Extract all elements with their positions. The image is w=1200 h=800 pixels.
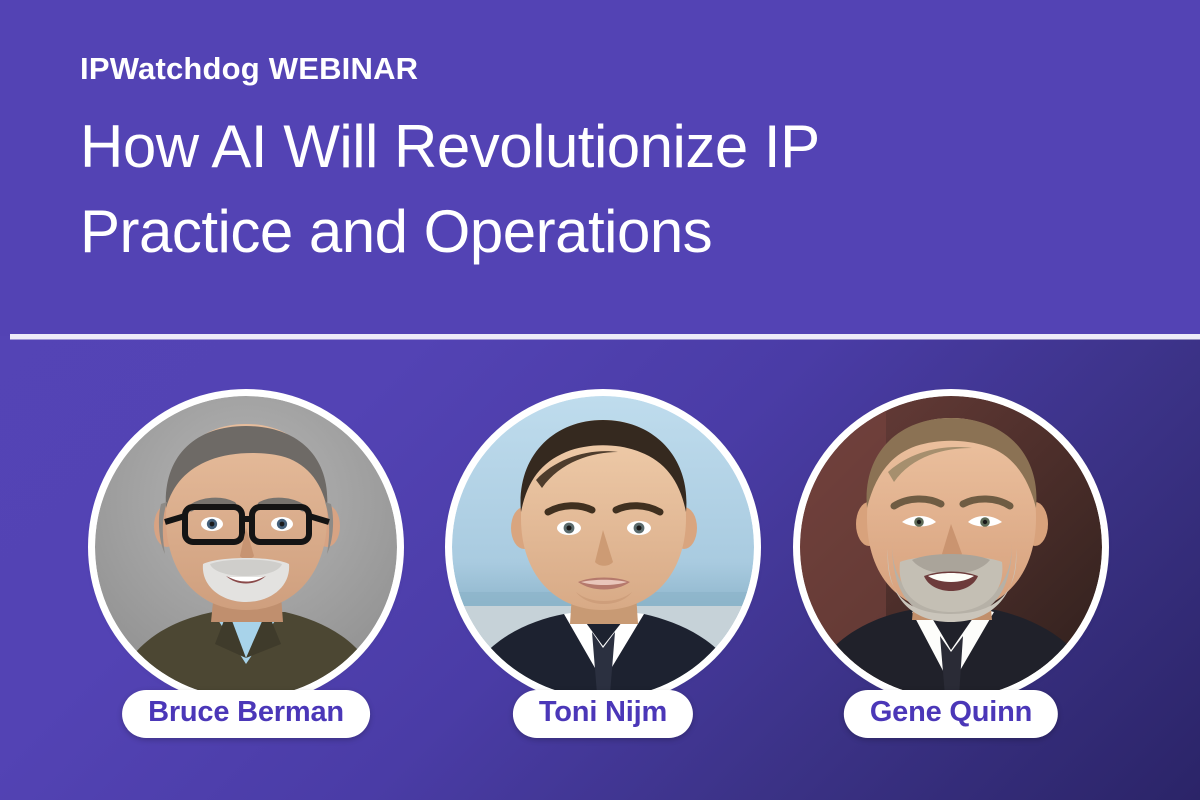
speaker-name-pill: Bruce Berman	[122, 690, 370, 738]
header: IPWatchdog WEBINAR How AI Will Revolutio…	[80, 52, 1140, 274]
header-divider	[10, 334, 1200, 339]
speaker-card: Toni Nijm	[452, 396, 754, 698]
speaker-name-pill: Toni Nijm	[513, 690, 693, 738]
speaker-photo	[95, 396, 397, 698]
speaker-card: Gene Quinn	[800, 396, 1102, 698]
avatar	[452, 396, 754, 698]
eyebrow-label: IPWatchdog WEBINAR	[80, 52, 1140, 86]
speaker-name: Bruce Berman	[148, 697, 344, 729]
avatar	[95, 396, 397, 698]
avatar	[800, 396, 1102, 698]
speaker-list: Bruce Berman	[0, 396, 1200, 746]
speaker-card: Bruce Berman	[95, 396, 397, 698]
speaker-name: Toni Nijm	[539, 697, 667, 729]
page-title: How AI Will Revolutionize IP Practice an…	[80, 104, 980, 274]
speaker-photo	[452, 396, 754, 698]
speaker-name-pill: Gene Quinn	[844, 690, 1058, 738]
webinar-promo-graphic: IPWatchdog WEBINAR How AI Will Revolutio…	[0, 0, 1200, 800]
speaker-photo	[800, 396, 1102, 698]
speaker-name: Gene Quinn	[870, 697, 1032, 729]
